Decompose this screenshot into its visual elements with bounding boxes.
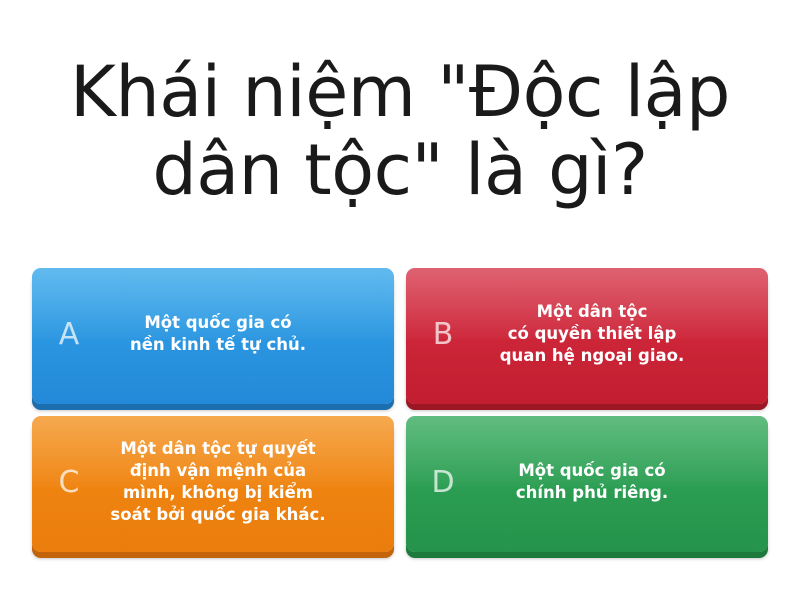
answer-text-d: Một quốc gia có chính phủ riêng. [466, 460, 754, 504]
answer-letter-a: A [46, 317, 92, 352]
answer-letter-b: B [420, 317, 466, 352]
answer-text-c: Một dân tộc tự quyết định vận mệnh của m… [92, 438, 380, 525]
answers-grid: A Một quốc gia có nền kinh tế tự chủ. B … [0, 258, 800, 600]
answer-letter-c: C [46, 465, 92, 500]
answer-text-a: Một quốc gia có nền kinh tế tự chủ. [92, 312, 380, 356]
answer-letter-d: D [420, 465, 466, 500]
answer-option-b[interactable]: B Một dân tộc có quyền thiết lập quan hệ… [406, 268, 768, 404]
answer-option-d[interactable]: D Một quốc gia có chính phủ riêng. [406, 416, 768, 552]
question-area: Khái niệm "Độc lập dân tộc" là gì? [0, 0, 800, 258]
answer-option-c[interactable]: C Một dân tộc tự quyết định vận mệnh của… [32, 416, 394, 552]
answer-text-b: Một dân tộc có quyền thiết lập quan hệ n… [466, 301, 754, 366]
question-text: Khái niệm "Độc lập dân tộc" là gì? [10, 53, 790, 210]
quiz-container: Khái niệm "Độc lập dân tộc" là gì? A Một… [0, 0, 800, 600]
answer-option-a[interactable]: A Một quốc gia có nền kinh tế tự chủ. [32, 268, 394, 404]
